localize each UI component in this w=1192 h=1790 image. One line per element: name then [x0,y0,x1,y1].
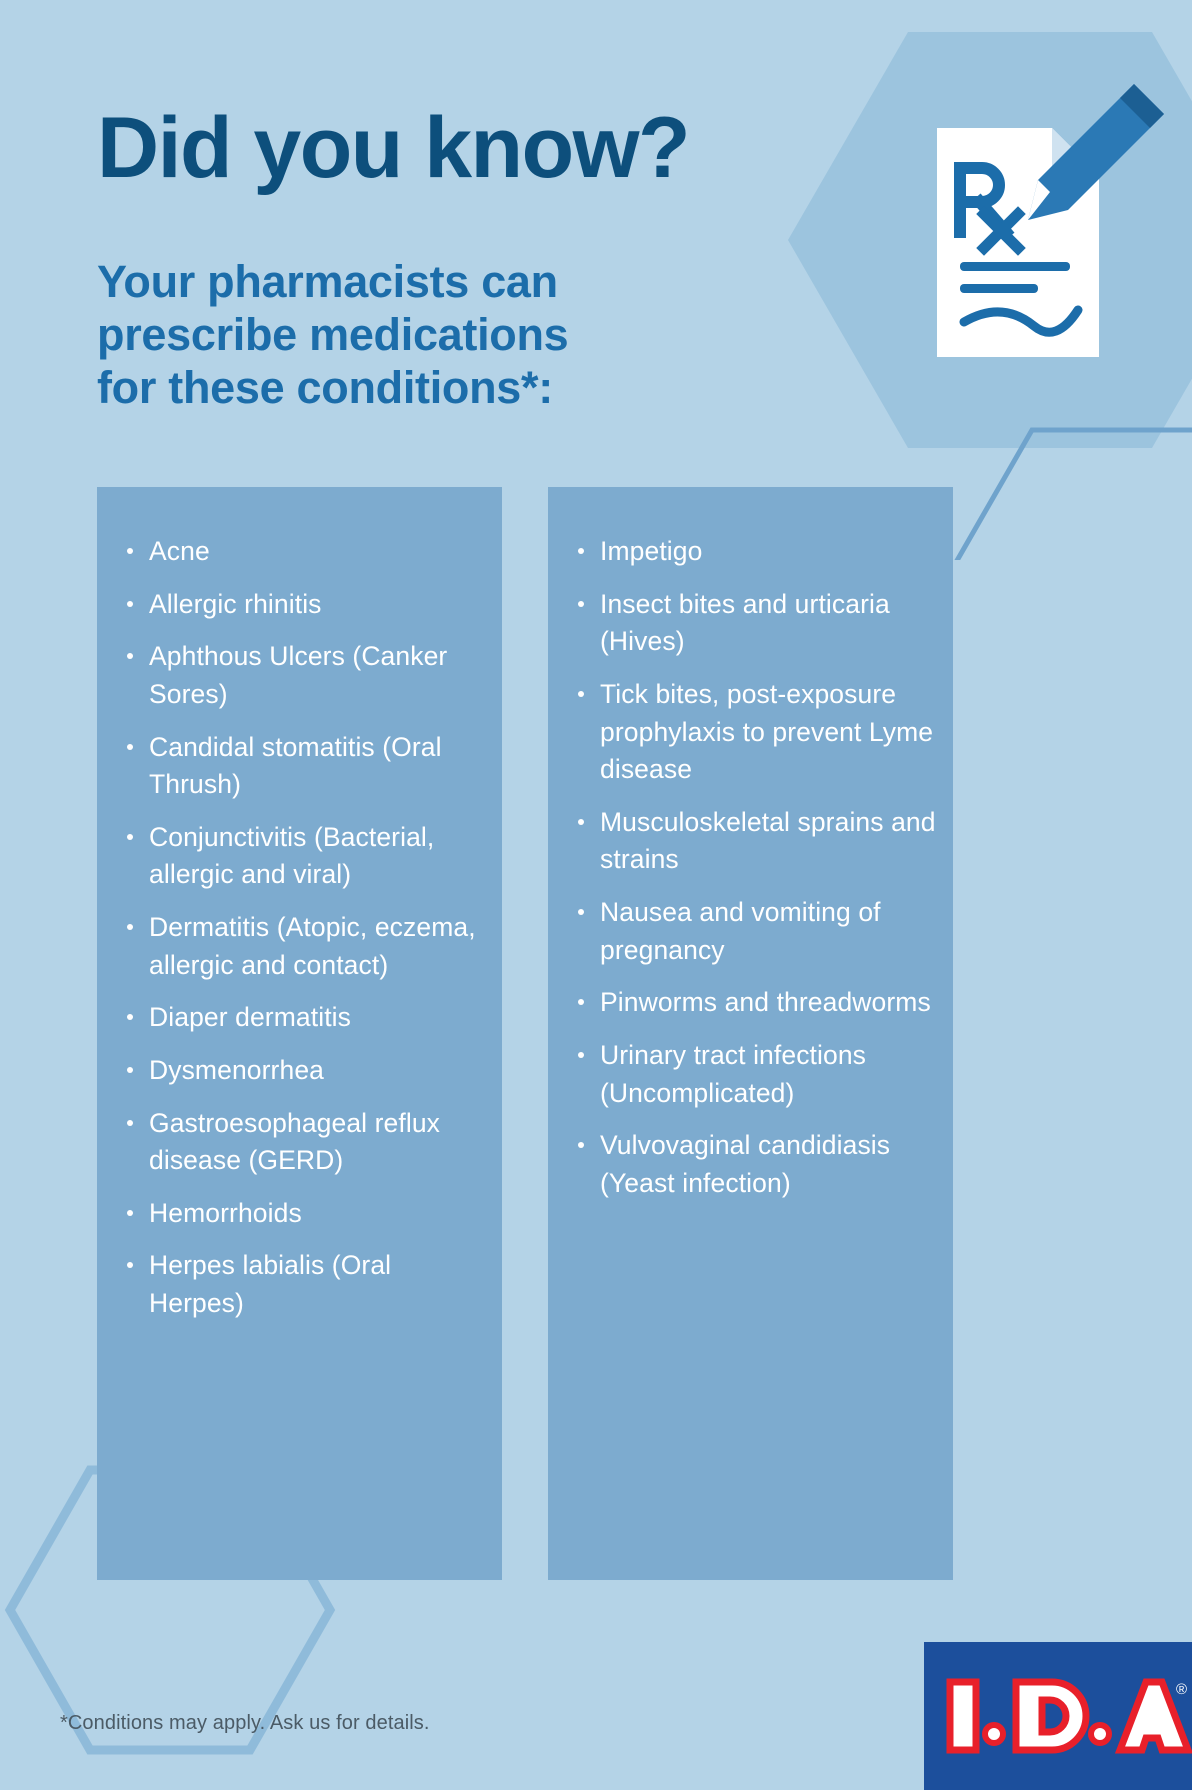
list-item: Hemorrhoids [123,1195,488,1233]
subtitle-line-3: for these conditions*: [97,362,553,413]
page-subtitle: Your pharmacists can prescribe medicatio… [97,190,857,414]
subtitle-line-2: prescribe medications [97,309,568,360]
conditions-panel-right: Impetigo Insect bites and urticaria (Hiv… [548,487,953,1580]
list-item: Vulvovaginal candidiasis (Yeast infectio… [574,1127,939,1202]
list-item: Pinworms and threadworms [574,984,939,1022]
list-item: Diaper dermatitis [123,999,488,1037]
list-item: Candidal stomatitis (Oral Thrush) [123,729,488,804]
registered-trademark-symbol: ® [1176,1681,1187,1698]
rx-prescription-pad-icon [937,84,1164,357]
list-item: Tick bites, post-exposure prophylaxis to… [574,676,939,789]
conditions-panel-left: Acne Allergic rhinitis Aphthous Ulcers (… [97,487,502,1580]
list-item: Musculoskeletal sprains and strains [574,804,939,879]
list-item: Gastroesophageal reflux disease (GERD) [123,1105,488,1180]
list-item: Urinary tract infections (Uncomplicated) [574,1037,939,1112]
conditions-list-right: Impetigo Insect bites and urticaria (Hiv… [548,487,953,1202]
conditions-panels: Acne Allergic rhinitis Aphthous Ulcers (… [97,487,1097,1580]
list-item: Aphthous Ulcers (Canker Sores) [123,638,488,713]
list-item: Impetigo [574,533,939,571]
list-item: Insect bites and urticaria (Hives) [574,586,939,661]
ida-logo: ® [924,1642,1192,1790]
list-item: Nausea and vomiting of pregnancy [574,894,939,969]
poster-canvas: Did you know? Your pharmacists can presc… [0,0,1192,1790]
list-item: Herpes labialis (Oral Herpes) [123,1247,488,1322]
page-title: Did you know? [97,108,857,190]
list-item: Conjunctivitis (Bacterial, allergic and … [123,819,488,894]
heading-block: Did you know? Your pharmacists can presc… [97,108,857,414]
list-item: Dermatitis (Atopic, eczema, allergic and… [123,909,488,984]
conditions-list-left: Acne Allergic rhinitis Aphthous Ulcers (… [97,487,502,1323]
list-item: Allergic rhinitis [123,586,488,624]
list-item: Acne [123,533,488,571]
list-item: Dysmenorrhea [123,1052,488,1090]
pen-icon [1028,84,1164,220]
subtitle-line-1: Your pharmacists can [97,256,558,307]
footnote-disclaimer: *Conditions may apply. Ask us for detail… [60,1712,430,1735]
